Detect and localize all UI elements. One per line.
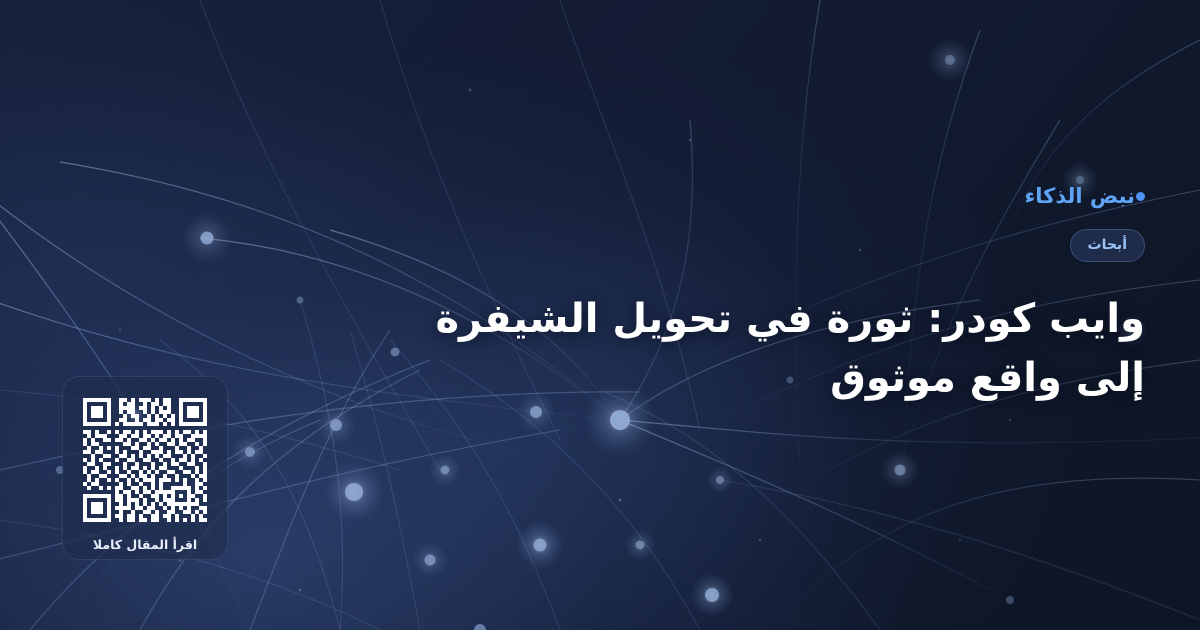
brand-name-label: نبض الذكاء	[1025, 184, 1135, 208]
content-block: نبض الذكاء أبحاث وايب كودر: ثورة في تحوي…	[355, 186, 1145, 408]
qr-code-icon	[79, 394, 211, 526]
page-title: وايب كودر: ثورة في تحويل الشيفرة إلى واق…	[355, 290, 1145, 408]
qr-code-card[interactable]: اقرأ المقال كاملا	[62, 376, 228, 560]
qr-card-caption: اقرأ المقال كاملا	[93, 537, 197, 552]
brand-name: نبض الذكاء	[355, 186, 1145, 207]
dot-icon	[1136, 192, 1145, 201]
social-share-card: اقرأ المقال كاملا نبض الذكاء أبحاث وايب …	[0, 0, 1200, 630]
category-badge[interactable]: أبحاث	[1070, 229, 1145, 262]
